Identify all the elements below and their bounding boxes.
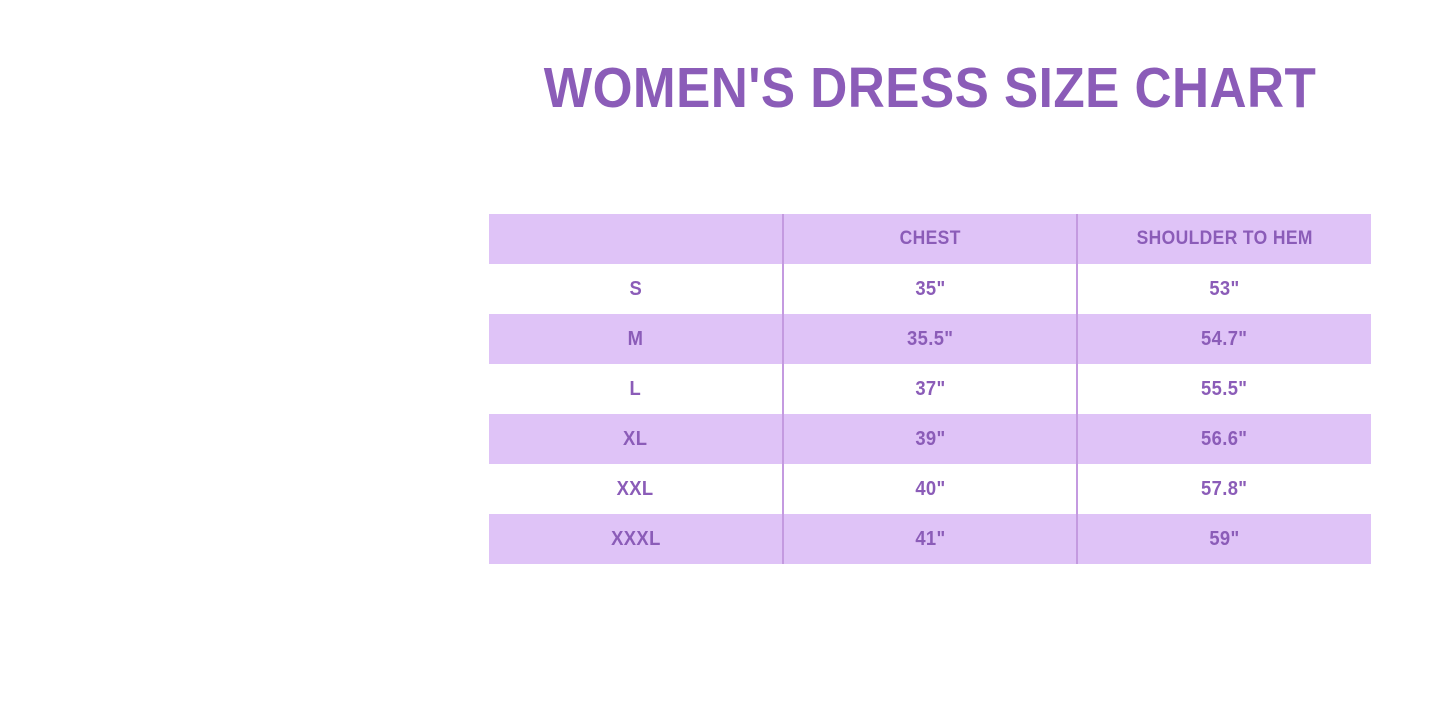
size-label: XXXL	[611, 528, 661, 551]
cell-chest: 35"	[783, 264, 1077, 314]
table-body: S 35" 53" M 35.5"	[489, 264, 1371, 564]
cell-shoulder-to-hem: 59"	[1077, 514, 1371, 564]
column-header-shoulder-to-hem-label: SHOULDER TO HEM	[1136, 228, 1312, 250]
table-row: XXXL 41" 59"	[489, 514, 1371, 564]
cell-chest: 35.5"	[783, 314, 1077, 364]
chest-value: 35"	[915, 278, 945, 301]
cell-chest: 39"	[783, 414, 1077, 464]
cell-size: XL	[489, 414, 783, 464]
table-row: XXL 40" 57.8"	[489, 464, 1371, 514]
cell-chest: 37"	[783, 364, 1077, 414]
column-header-chest-label: CHEST	[899, 228, 960, 250]
size-label: M	[628, 328, 644, 351]
table-header: CHEST SHOULDER TO HEM	[489, 214, 1371, 264]
size-chart-table: CHEST SHOULDER TO HEM S 35" 53"	[489, 214, 1371, 564]
shoulder-to-hem-value: 59"	[1209, 528, 1239, 551]
cell-size: S	[489, 264, 783, 314]
chest-value: 41"	[915, 528, 945, 551]
size-chart-table-container: CHEST SHOULDER TO HEM S 35" 53"	[489, 214, 1371, 564]
table-row: S 35" 53"	[489, 264, 1371, 314]
cell-shoulder-to-hem: 57.8"	[1077, 464, 1371, 514]
column-header-shoulder-to-hem: SHOULDER TO HEM	[1077, 214, 1371, 264]
table-row: M 35.5" 54.7"	[489, 314, 1371, 364]
table-row: XL 39" 56.6"	[489, 414, 1371, 464]
size-label: S	[629, 278, 642, 301]
chest-value: 37"	[915, 378, 945, 401]
shoulder-to-hem-value: 56.6"	[1201, 428, 1247, 451]
column-header-chest: CHEST	[783, 214, 1077, 264]
cell-size: XXXL	[489, 514, 783, 564]
chest-value: 39"	[915, 428, 945, 451]
shoulder-to-hem-value: 55.5"	[1201, 378, 1247, 401]
shoulder-to-hem-value: 57.8"	[1201, 478, 1247, 501]
table-header-row: CHEST SHOULDER TO HEM	[489, 214, 1371, 264]
cell-shoulder-to-hem: 55.5"	[1077, 364, 1371, 414]
chest-value: 40"	[915, 478, 945, 501]
shoulder-to-hem-value: 53"	[1209, 278, 1239, 301]
size-label: XXL	[617, 478, 654, 501]
column-header-size	[489, 214, 783, 264]
cell-chest: 40"	[783, 464, 1077, 514]
cell-size: M	[489, 314, 783, 364]
shoulder-to-hem-value: 54.7"	[1201, 328, 1247, 351]
chest-value: 35.5"	[907, 328, 953, 351]
cell-size: L	[489, 364, 783, 414]
cell-shoulder-to-hem: 56.6"	[1077, 414, 1371, 464]
size-chart-page: WOMEN'S DRESS SIZE CHART CHEST SHOULDER …	[0, 0, 1445, 723]
cell-chest: 41"	[783, 514, 1077, 564]
cell-shoulder-to-hem: 54.7"	[1077, 314, 1371, 364]
size-label: L	[630, 378, 642, 401]
size-label: XL	[623, 428, 647, 451]
cell-size: XXL	[489, 464, 783, 514]
cell-shoulder-to-hem: 53"	[1077, 264, 1371, 314]
page-title: WOMEN'S DRESS SIZE CHART	[533, 57, 1327, 120]
table-row: L 37" 55.5"	[489, 364, 1371, 414]
